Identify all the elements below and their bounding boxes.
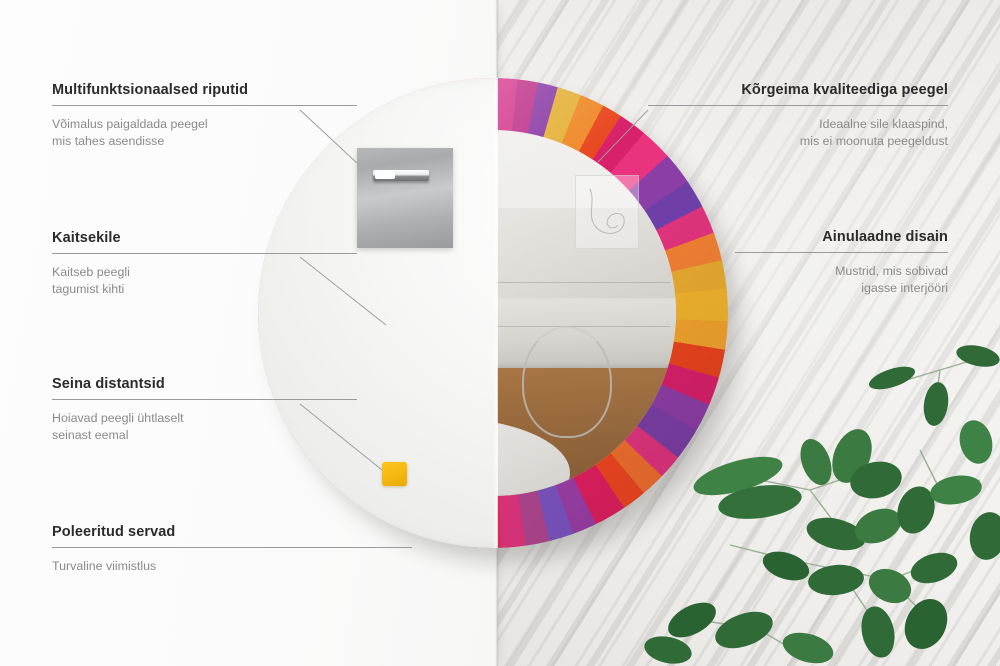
callout-description: Ideaalne sile klaaspind, mis ei moonuta … (648, 116, 948, 150)
callout-description: Võimalus paigaldada peegel mis tahes ase… (52, 116, 357, 150)
callout-ainulaadne-disain: Ainulaadne disain Mustrid, mis sobivad i… (735, 229, 948, 297)
callout-rule (52, 399, 357, 400)
callout-poleeritud-servad: Poleeritud servad Turvaline viimistlus (52, 524, 412, 575)
callout-kaitsekile: Kaitsekile Kaitseb peegli tagumist kihti (52, 230, 357, 298)
callout-multifunktsionaalsed-riputid: Multifunktsionaalsed riputid Võimalus pa… (52, 82, 357, 150)
plant-leaves-icon (640, 330, 1000, 666)
callout-rule (735, 252, 948, 253)
callout-korgeima-kvaliteediga-peegel: Kõrgeima kvaliteediga peegel Ideaalne si… (648, 82, 948, 150)
callout-title: Kõrgeima kvaliteediga peegel (648, 82, 948, 98)
yellow-wall-spacer (382, 462, 407, 486)
callout-description: Turvaline viimistlus (52, 558, 412, 575)
callout-rule (52, 105, 357, 106)
callout-rule (52, 253, 357, 254)
hanger-slot-highlight (375, 171, 395, 179)
mirror-back-panel-edge (493, 78, 498, 548)
callout-title: Poleeritud servad (52, 524, 412, 540)
callout-description: Hoiavad peegli ühtlaselt seinast eemal (52, 410, 357, 444)
callout-title: Multifunktsionaalsed riputid (52, 82, 357, 98)
infographic-canvas: Multifunktsionaalsed riputid Võimalus pa… (0, 0, 1000, 666)
callout-title: Seina distantsid (52, 376, 357, 392)
callout-rule (52, 547, 412, 548)
callout-title: Kaitsekile (52, 230, 357, 246)
callout-description: Kaitseb peegli tagumist kihti (52, 264, 357, 298)
decorative-plant (640, 330, 1000, 666)
callout-description: Mustrid, mis sobivad igasse interjööri (735, 263, 948, 297)
callout-title: Ainulaadne disain (735, 229, 948, 245)
glass-label-sticker (575, 175, 639, 249)
hanger-plate (357, 148, 453, 248)
callout-rule (648, 105, 948, 106)
line-art-icon (582, 181, 632, 243)
callout-seina-distantsid: Seina distantsid Hoiavad peegli ühtlasel… (52, 376, 357, 444)
